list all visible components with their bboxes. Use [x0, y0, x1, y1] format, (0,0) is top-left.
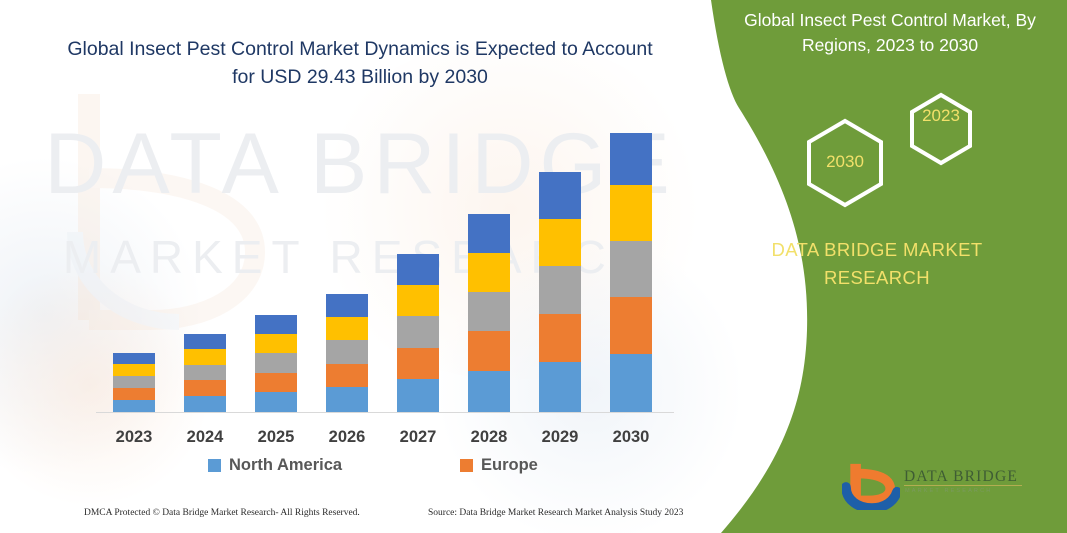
- bar-segment-2029-3: [539, 266, 581, 314]
- legend-swatch-icon: [460, 459, 473, 472]
- x-tick-2030: 2030: [596, 428, 667, 447]
- bar-segment-2024-2: [184, 380, 226, 396]
- x-tick-2028: 2028: [454, 428, 525, 447]
- bar-segment-2029-2: [539, 314, 581, 362]
- bar-2026: [326, 294, 368, 413]
- bar-segment-2025-1: [255, 392, 297, 412]
- bar-segment-2023-1: [113, 400, 155, 412]
- bar-segment-2028-5: [468, 214, 510, 253]
- bar-segment-2026-4: [326, 317, 368, 340]
- legend-item-europe[interactable]: Europe: [460, 456, 538, 475]
- data-bridge-logo: DATA BRIDGE MARKET RESEARCH: [842, 458, 1032, 514]
- bar-segment-2026-3: [326, 340, 368, 364]
- bar-2030: [610, 133, 652, 412]
- x-tick-2023: 2023: [99, 428, 170, 447]
- bar-segment-2030-4: [610, 185, 652, 240]
- right-green-panel: Global Insect Pest Control Market, By Re…: [687, 0, 1067, 533]
- x-tick-2026: 2026: [312, 428, 383, 447]
- bar-segment-2026-1: [326, 387, 368, 412]
- logo-subtitle: MARKET RESEARCH: [905, 488, 992, 494]
- bar-segment-2025-2: [255, 373, 297, 392]
- bar-segment-2027-2: [397, 348, 439, 380]
- legend-swatch-icon: [208, 459, 221, 472]
- bar-segment-2027-4: [397, 285, 439, 316]
- bar-segment-2028-2: [468, 331, 510, 371]
- footer-copyright: DMCA Protected © Data Bridge Market Rese…: [84, 508, 360, 518]
- bar-segment-2023-2: [113, 388, 155, 400]
- bar-segment-2023-3: [113, 376, 155, 388]
- bar-2028: [468, 214, 510, 412]
- hexagon-label-2030: 2030: [807, 152, 883, 172]
- bar-segment-2030-2: [610, 297, 652, 354]
- bar-segment-2025-3: [255, 353, 297, 372]
- bar-segment-2028-4: [468, 253, 510, 292]
- bar-segment-2023-5: [113, 353, 155, 364]
- bar-segment-2028-1: [468, 371, 510, 412]
- bar-segment-2025-4: [255, 334, 297, 353]
- chart-plot-area: [96, 120, 676, 413]
- bar-segment-2029-5: [539, 172, 581, 219]
- chart-legend: North AmericaEurope: [96, 456, 676, 480]
- panel-title: Global Insect Pest Control Market, By Re…: [725, 8, 1055, 59]
- bar-segment-2030-1: [610, 354, 652, 412]
- bar-segment-2029-1: [539, 362, 581, 412]
- logo-divider: [904, 485, 1022, 486]
- legend-label: North America: [229, 456, 342, 475]
- x-axis-tick-labels: 20232024202520262027202820292030: [96, 428, 676, 454]
- logo-wordmark: DATA BRIDGE: [904, 468, 1018, 486]
- legend-label: Europe: [481, 456, 538, 475]
- bar-segment-2027-3: [397, 316, 439, 347]
- bar-segment-2027-1: [397, 379, 439, 412]
- footer: DMCA Protected © Data Bridge Market Rese…: [0, 508, 700, 528]
- hexagon-badges: 2030 2023: [787, 84, 1067, 214]
- legend-item-north-america[interactable]: North America: [208, 456, 342, 475]
- data-bridge-logo-mark-icon: [842, 460, 900, 510]
- footer-source: Source: Data Bridge Market Research Mark…: [428, 508, 683, 518]
- bar-2027: [397, 254, 439, 412]
- bar-segment-2026-5: [326, 294, 368, 317]
- bar-2023: [113, 353, 155, 412]
- bar-2029: [539, 172, 581, 412]
- bar-2025: [255, 315, 297, 412]
- bar-segment-2023-4: [113, 364, 155, 376]
- x-tick-2025: 2025: [241, 428, 312, 447]
- x-tick-2024: 2024: [170, 428, 241, 447]
- bar-segment-2024-5: [184, 334, 226, 349]
- bar-segment-2024-4: [184, 349, 226, 364]
- bar-segment-2030-3: [610, 241, 652, 297]
- bar-segment-2024-1: [184, 396, 226, 412]
- bar-segment-2024-3: [184, 365, 226, 381]
- bar-segment-2026-2: [326, 364, 368, 388]
- hexagon-label-2023: 2023: [903, 106, 979, 126]
- x-tick-2027: 2027: [383, 428, 454, 447]
- bar-segment-2028-3: [468, 292, 510, 331]
- brand-name: DATA BRIDGE MARKET RESEARCH: [727, 236, 1027, 292]
- hexagon-outline-icons: [787, 84, 1067, 214]
- stacked-bar-chart: 20232024202520262027202820292030 North A…: [0, 0, 720, 533]
- x-axis-line: [96, 412, 674, 413]
- bar-segment-2030-5: [610, 133, 652, 185]
- bar-segment-2029-4: [539, 219, 581, 266]
- bar-segment-2025-5: [255, 315, 297, 334]
- bar-segment-2027-5: [397, 254, 439, 285]
- x-tick-2029: 2029: [525, 428, 596, 447]
- bar-2024: [184, 334, 226, 412]
- infographic-root: DATA BRIDGE MARKET RESEARCH Global Insec…: [0, 0, 1067, 533]
